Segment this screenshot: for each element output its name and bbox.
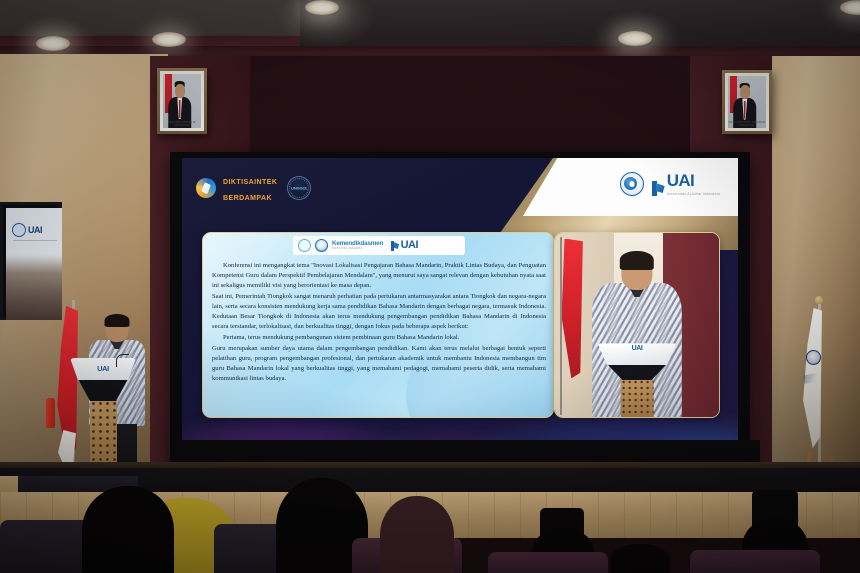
- portrait-caption: WAKIL PRESIDEN REPUBLIK INDONESIA: [728, 121, 766, 127]
- portrait-caption: PRESIDEN REPUBLIK INDONESIA: [163, 121, 201, 127]
- uai-logo: UAI Universitas Al Azhar Indonesia: [652, 173, 720, 196]
- audience-head: [82, 486, 174, 573]
- side-monitor-logo: UAI: [12, 222, 58, 238]
- portrait-image: PRESIDEN REPUBLIK INDONESIA: [163, 74, 201, 128]
- portrait-image: WAKIL PRESIDEN REPUBLIK INDONESIA: [728, 76, 766, 128]
- divider: [13, 240, 57, 241]
- ceiling-downlight: [152, 32, 186, 47]
- ceiling-downlight: [305, 0, 339, 15]
- side-monitor-screen: UAI: [6, 208, 62, 320]
- uai-mark-icon: [652, 181, 665, 196]
- portrait-mat: WAKIL PRESIDEN REPUBLIK INDONESIA: [725, 73, 769, 131]
- seal-icon: [12, 223, 26, 237]
- audience-head: [610, 544, 670, 573]
- ministry-name-group: Kemendikdasmen KOTA DKI JAKARTA: [332, 241, 383, 250]
- uai-logo-group: UAI Universitas Al Azhar Indonesia: [620, 172, 720, 196]
- portrait-mat: PRESIDEN REPUBLIK INDONESIA: [160, 71, 204, 131]
- speaker-hair: [105, 314, 130, 327]
- ministry-region: KOTA DKI JAKARTA: [332, 247, 383, 250]
- slide-paragraph: Guru merupakan sumber daya utama dalam p…: [212, 344, 546, 384]
- seal-emblem: [629, 181, 634, 187]
- ceiling-downlight: [36, 36, 70, 51]
- podium-logo-text: UAI: [97, 364, 109, 373]
- presentation-slide: DIKTISAINTEK BERDAMPAK UNGGUL UAI Univer…: [182, 158, 738, 446]
- side-monitor: UAI: [0, 202, 62, 320]
- uai-logo-subtitle: Universitas Al Azhar Indonesia: [667, 192, 720, 196]
- slide-text-panel: Kemendikdasmen KOTA DKI JAKARTA UAI Konf…: [202, 232, 554, 418]
- flag-finial-icon: [815, 296, 823, 304]
- unggul-badge-text: UNGGUL: [291, 186, 308, 191]
- slide-paragraph: Pertama, terus mendukung pembangunan sis…: [212, 333, 546, 343]
- framed-portrait-president: PRESIDEN REPUBLIK INDONESIA: [157, 68, 207, 134]
- ceiling-downlight: [618, 31, 652, 46]
- logo-line-2: BERDAMPAK: [223, 195, 272, 202]
- logo-line-1: DIKTISAINTEK: [223, 179, 277, 186]
- video-podium: UAI: [598, 343, 677, 417]
- video-speaker-hair: [620, 251, 654, 269]
- podium-logo-text: UAI: [632, 345, 643, 352]
- slide-paragraph: Konferensi ini mengangkat tema "Inovasi …: [212, 261, 546, 291]
- circle-icon: [298, 239, 311, 252]
- podium-top: UAI: [598, 343, 677, 365]
- panel-uai-logo: UAI: [391, 241, 418, 251]
- uai-mark-icon: [391, 241, 399, 251]
- diktisaintek-swoosh-icon: [196, 178, 216, 198]
- panel-uai-text: UAI: [401, 241, 418, 250]
- side-monitor-logo-text: UAI: [28, 225, 42, 235]
- conference-hall-scene: UAI PRESIDEN REPUBLIK INDONESIA: [0, 0, 860, 573]
- framed-portrait-vice-president: WAKIL PRESIDEN REPUBLIK INDONESIA: [722, 70, 772, 134]
- diktisaintek-logo-group: DIKTISAINTEK BERDAMPAK UNGGUL: [196, 172, 311, 205]
- audience-seat: [488, 552, 608, 573]
- slide-body-text: Konferensi ini mengangkat tema "Inovasi …: [212, 261, 546, 385]
- audience-head: [380, 496, 454, 573]
- unggul-badge-icon: UNGGUL: [287, 176, 311, 200]
- podium-middle: [607, 364, 667, 380]
- panel-logo-bar: Kemendikdasmen KOTA DKI JAKARTA UAI: [293, 236, 465, 255]
- portrait-head: [175, 84, 185, 98]
- flag-pole: [560, 237, 562, 415]
- podium-pattern: [620, 379, 653, 417]
- portrait-head: [740, 85, 750, 99]
- podium-pattern: [90, 400, 117, 466]
- university-seal-icon: [620, 172, 644, 196]
- university-flag-seal-icon: [806, 350, 821, 365]
- slide-paragraph: Saat ini, Pemerintah Tiongkok sangat men…: [212, 292, 546, 332]
- fire-extinguisher: [46, 398, 55, 428]
- microphone-icon: [116, 354, 129, 367]
- slide-video-panel: UAI: [554, 232, 720, 418]
- podium-middle: [78, 379, 128, 401]
- ministry-logo-icon: [315, 239, 328, 252]
- uai-logo-text: UAI: [667, 171, 694, 190]
- audience-seat: [690, 550, 820, 573]
- diktisaintek-logo-text: DIKTISAINTEK BERDAMPAK: [223, 172, 277, 205]
